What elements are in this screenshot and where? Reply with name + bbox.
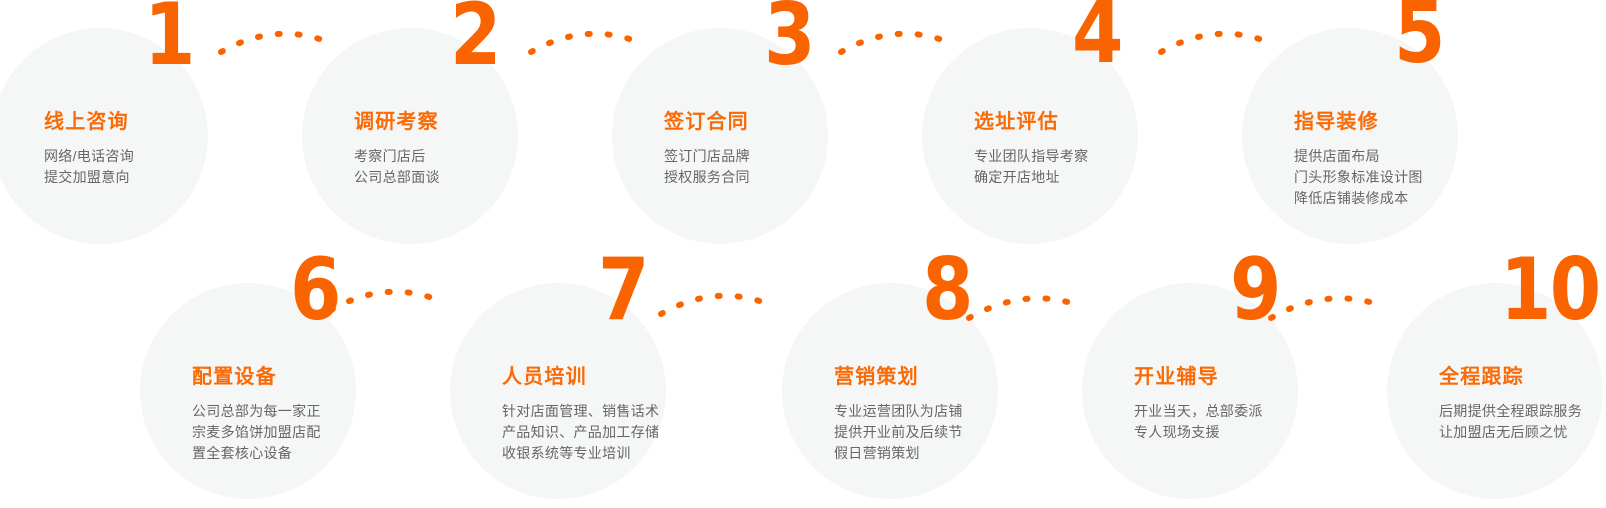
desc-line: 公司总部面谈 xyxy=(354,167,584,188)
step-title: 签订合同 xyxy=(664,110,894,134)
step-number: 7 xyxy=(598,255,648,326)
connector-7-to-8 xyxy=(658,284,776,318)
step-3[interactable]: 3 签订合同 签订门店品牌 授权服务合同 xyxy=(612,28,828,244)
step-content: 选址评估 专业团队指导考察 确定开店地址 xyxy=(974,110,1204,188)
step-description: 签订门店品牌 授权服务合同 xyxy=(664,146,894,188)
step-title: 调研考察 xyxy=(354,110,584,134)
step-number: 10 xyxy=(1500,255,1599,326)
step-number: 3 xyxy=(764,0,814,71)
desc-line: 后期提供全程跟踪服务 xyxy=(1439,401,1606,422)
step-content: 签订合同 签订门店品牌 授权服务合同 xyxy=(664,110,894,188)
step-number: 4 xyxy=(1072,0,1122,69)
step-title: 人员培训 xyxy=(502,365,732,389)
step-4[interactable]: 4 选址评估 专业团队指导考察 确定开店地址 xyxy=(922,28,1138,244)
desc-line: 假日营销策划 xyxy=(834,443,1064,464)
desc-line: 专人现场支援 xyxy=(1134,422,1364,443)
desc-line: 考察门店后 xyxy=(354,146,584,167)
desc-line: 让加盟店无后顾之忧 xyxy=(1439,422,1606,443)
desc-line: 公司总部为每一家正 xyxy=(192,401,422,422)
desc-line: 授权服务合同 xyxy=(664,167,894,188)
desc-line: 宗麦多馅饼加盟店配 xyxy=(192,422,422,443)
desc-line: 置全套核心设备 xyxy=(192,443,422,464)
step-number: 6 xyxy=(290,255,340,326)
step-title: 选址评估 xyxy=(974,110,1204,134)
step-description: 针对店面管理、销售话术 产品知识、产品加工存储 收银系统等专业培训 xyxy=(502,401,732,464)
step-content: 人员培训 针对店面管理、销售话术 产品知识、产品加工存储 收银系统等专业培训 xyxy=(502,365,732,464)
step-description: 后期提供全程跟踪服务 让加盟店无后顾之忧 xyxy=(1439,401,1606,443)
step-title: 全程跟踪 xyxy=(1439,365,1606,389)
desc-line: 降低店铺装修成本 xyxy=(1294,188,1524,209)
desc-line: 收银系统等专业培训 xyxy=(502,443,732,464)
step-number: 5 xyxy=(1394,0,1444,69)
step-content: 指导装修 提供店面布局 门头形象标准设计图 降低店铺装修成本 xyxy=(1294,110,1524,209)
step-content: 开业辅导 开业当天，总部委派 专人现场支援 xyxy=(1134,365,1364,443)
desc-line: 专业运营团队为店铺 xyxy=(834,401,1064,422)
desc-line: 提供开业前及后续节 xyxy=(834,422,1064,443)
step-8[interactable]: 8 营销策划 专业运营团队为店铺 提供开业前及后续节 假日营销策划 xyxy=(782,283,998,499)
franchise-process-flow: 1 线上咨询 网络/电话咨询 提交加盟意向 2 调研考察 考察门店后 公司总部面… xyxy=(0,0,1606,508)
desc-line: 门头形象标准设计图 xyxy=(1294,167,1524,188)
step-content: 线上咨询 网络/电话咨询 提交加盟意向 xyxy=(44,110,274,188)
step-number: 1 xyxy=(144,0,194,71)
step-description: 专业运营团队为店铺 提供开业前及后续节 假日营销策划 xyxy=(834,401,1064,464)
step-title: 开业辅导 xyxy=(1134,365,1364,389)
step-title: 营销策划 xyxy=(834,365,1064,389)
desc-line: 专业团队指导考察 xyxy=(974,146,1204,167)
step-title: 配置设备 xyxy=(192,365,422,389)
step-description: 提供店面布局 门头形象标准设计图 降低店铺装修成本 xyxy=(1294,146,1524,209)
step-title: 线上咨询 xyxy=(44,110,274,134)
step-title: 指导装修 xyxy=(1294,110,1524,134)
step-10[interactable]: 10 全程跟踪 后期提供全程跟踪服务 让加盟店无后顾之忧 xyxy=(1387,283,1603,499)
step-description: 考察门店后 公司总部面谈 xyxy=(354,146,584,188)
step-1[interactable]: 1 线上咨询 网络/电话咨询 提交加盟意向 xyxy=(0,28,208,244)
step-content: 营销策划 专业运营团队为店铺 提供开业前及后续节 假日营销策划 xyxy=(834,365,1064,464)
desc-line: 提交加盟意向 xyxy=(44,167,274,188)
step-description: 网络/电话咨询 提交加盟意向 xyxy=(44,146,274,188)
step-number: 2 xyxy=(450,0,500,71)
step-description: 开业当天，总部委派 专人现场支援 xyxy=(1134,401,1364,443)
step-5[interactable]: 5 指导装修 提供店面布局 门头形象标准设计图 降低店铺装修成本 xyxy=(1242,28,1458,244)
step-number: 9 xyxy=(1230,255,1280,326)
desc-line: 网络/电话咨询 xyxy=(44,146,274,167)
desc-line: 提供店面布局 xyxy=(1294,146,1524,167)
step-content: 全程跟踪 后期提供全程跟踪服务 让加盟店无后顾之忧 xyxy=(1439,365,1606,443)
step-9[interactable]: 9 开业辅导 开业当天，总部委派 专人现场支援 xyxy=(1082,283,1298,499)
desc-line: 产品知识、产品加工存储 xyxy=(502,422,732,443)
step-7[interactable]: 7 人员培训 针对店面管理、销售话术 产品知识、产品加工存储 收银系统等专业培训 xyxy=(450,283,666,499)
step-description: 公司总部为每一家正 宗麦多馅饼加盟店配 置全套核心设备 xyxy=(192,401,422,464)
desc-line: 确定开店地址 xyxy=(974,167,1204,188)
step-2[interactable]: 2 调研考察 考察门店后 公司总部面谈 xyxy=(302,28,518,244)
desc-line: 开业当天，总部委派 xyxy=(1134,401,1364,422)
step-description: 专业团队指导考察 确定开店地址 xyxy=(974,146,1204,188)
desc-line: 针对店面管理、销售话术 xyxy=(502,401,732,422)
desc-line: 签订门店品牌 xyxy=(664,146,894,167)
dotted-arc xyxy=(661,296,773,314)
step-content: 配置设备 公司总部为每一家正 宗麦多馅饼加盟店配 置全套核心设备 xyxy=(192,365,422,464)
step-content: 调研考察 考察门店后 公司总部面谈 xyxy=(354,110,584,188)
step-6[interactable]: 6 配置设备 公司总部为每一家正 宗麦多馅饼加盟店配 置全套核心设备 xyxy=(140,283,356,499)
step-number: 8 xyxy=(922,255,972,326)
